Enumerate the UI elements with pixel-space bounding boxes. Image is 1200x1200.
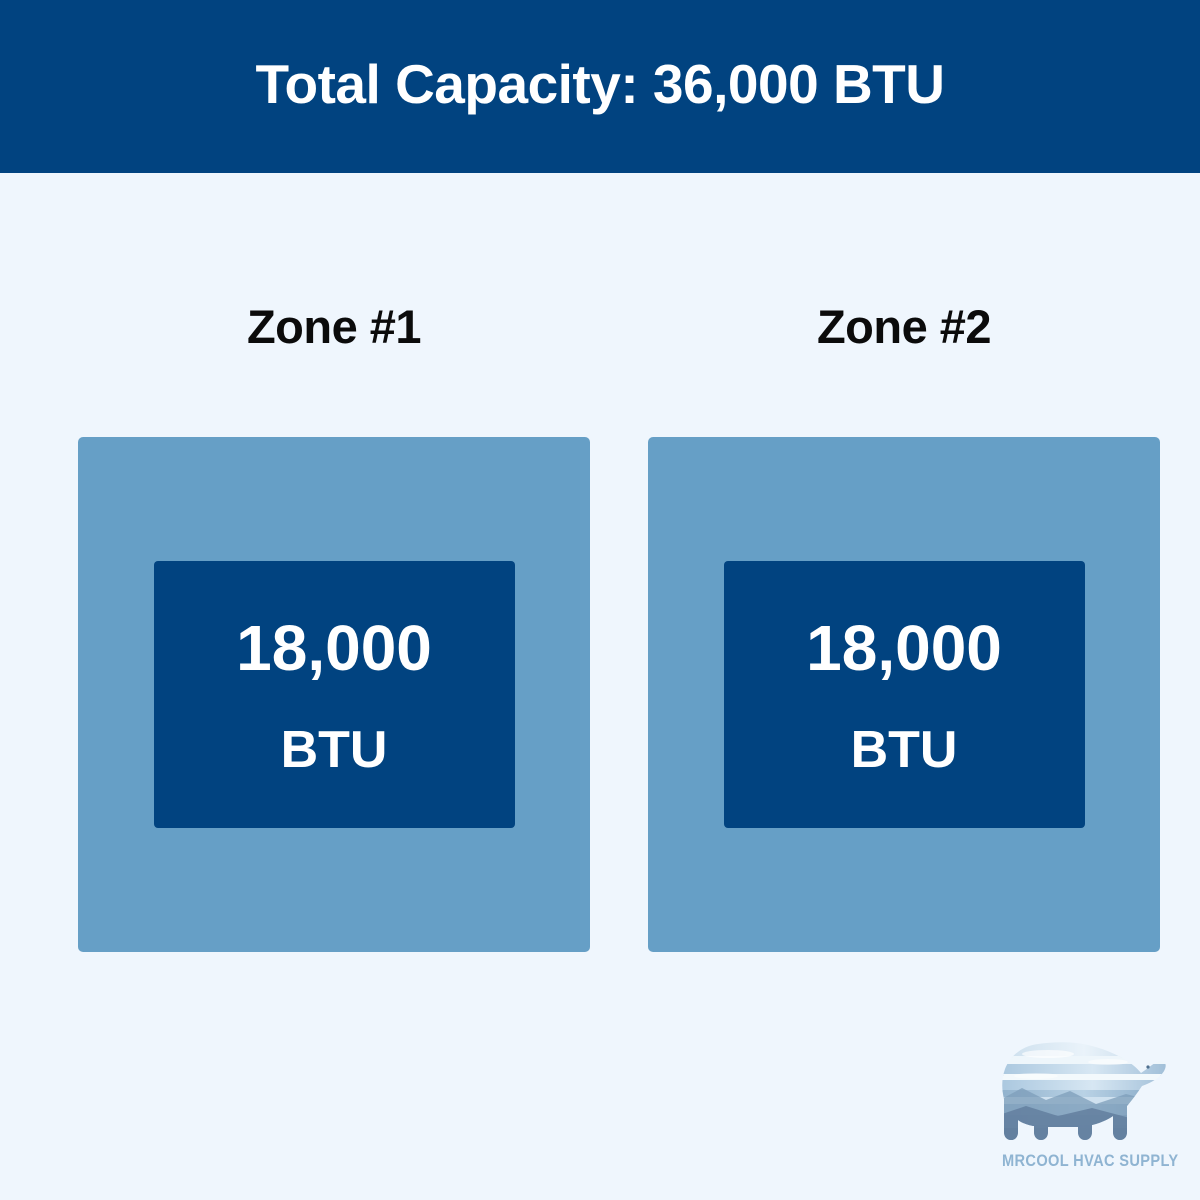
zone-1-capacity-unit: BTU <box>281 724 388 776</box>
zones-container: Zone #1 18,000 BTU Zone #2 18,000 BTU <box>0 173 1200 1030</box>
polar-bear-icon <box>996 1036 1172 1148</box>
zone-1-label: Zone #1 <box>78 303 590 350</box>
zone-1-capacity-box: 18,000 BTU <box>154 561 515 828</box>
zone-2-label: Zone #2 <box>648 303 1160 350</box>
header-bar: Total Capacity: 36,000 BTU <box>0 0 1200 173</box>
zone-2-capacity-value: 18,000 <box>806 616 1002 680</box>
brand-logo: MRCOOL HVAC SUPPLY <box>988 1036 1188 1188</box>
zone-2-capacity-unit: BTU <box>851 724 958 776</box>
page-title: Total Capacity: 36,000 BTU <box>256 57 945 112</box>
zone-1-outer-box: 18,000 BTU <box>78 437 590 952</box>
brand-logo-text: MRCOOL HVAC SUPPLY <box>1002 1152 1174 1169</box>
zone-1-capacity-value: 18,000 <box>236 616 432 680</box>
zone-2-outer-box: 18,000 BTU <box>648 437 1160 952</box>
zone-2-capacity-box: 18,000 BTU <box>724 561 1085 828</box>
